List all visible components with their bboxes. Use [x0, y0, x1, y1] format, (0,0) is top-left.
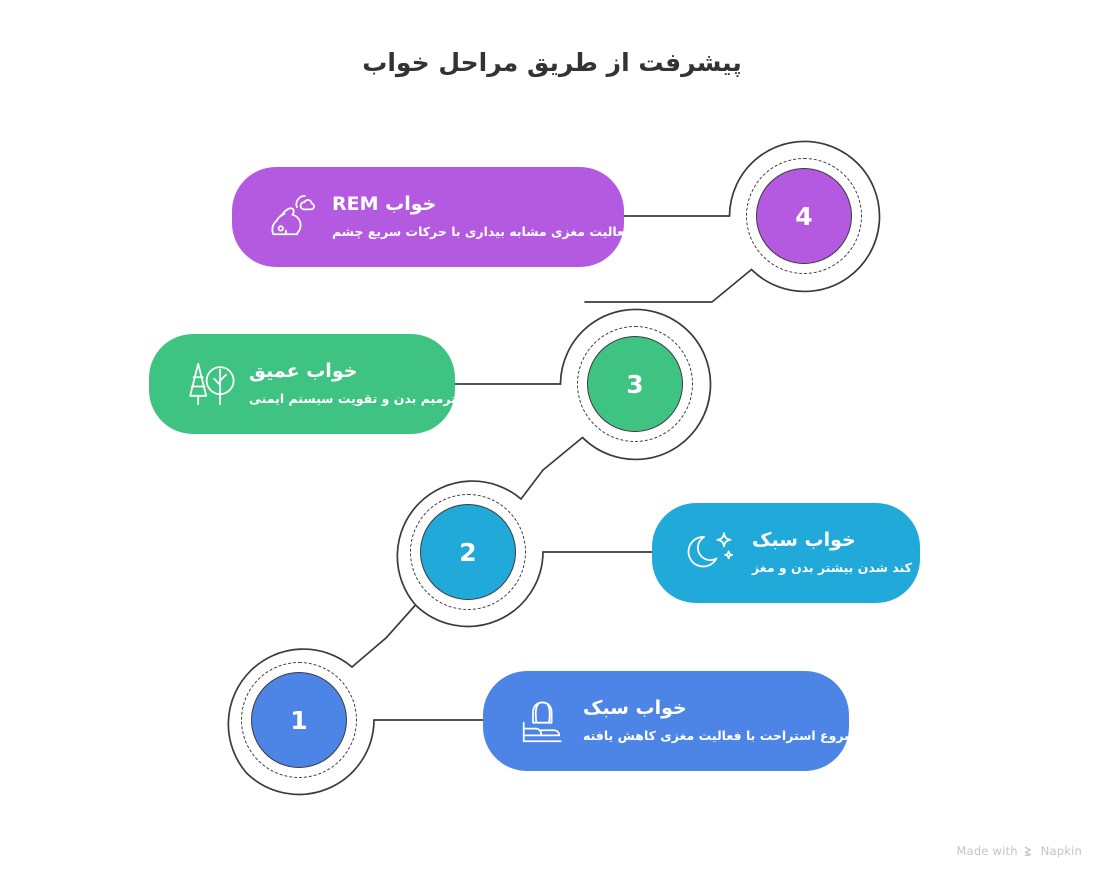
card-stage-4-title: خواب REM — [332, 192, 436, 218]
card-stage-1[interactable]: خواب سبک شروع استراحت با فعالیت مغزی کاه… — [483, 671, 849, 771]
crescent-moon-sparkles-icon — [684, 524, 742, 582]
card-stage-1-title: خواب سبک — [583, 696, 687, 722]
card-stage-1-subtitle: شروع استراحت با فعالیت مغزی کاهش یافته — [583, 727, 856, 746]
card-stage-2-subtitle: کند شدن بیشتر بدن و مغز — [752, 559, 912, 578]
card-stage-4[interactable]: خواب REM فعالیت مغزی مشابه بیداری با حرک… — [232, 167, 624, 267]
node-step-3[interactable]: 3 — [556, 305, 714, 463]
person-in-bed-icon — [515, 692, 573, 750]
watermark-made-with-label: Made with — [957, 844, 1018, 858]
card-stage-3[interactable]: خواب عمیق ترمیم بدن و تقویت سیستم ایمنی — [149, 334, 455, 434]
card-stage-1-text: خواب سبک شروع استراحت با فعالیت مغزی کاه… — [583, 696, 823, 745]
node-step-4-number: 4 — [756, 168, 852, 264]
rabbit-cloud-icon — [264, 188, 322, 246]
card-stage-4-subtitle: فعالیت مغزی مشابه بیداری با حرکات سریع چ… — [332, 223, 632, 242]
napkin-logo-icon — [1023, 845, 1036, 858]
card-stage-3-text: خواب عمیق ترمیم بدن و تقویت سیستم ایمنی — [249, 359, 429, 408]
two-trees-icon — [181, 355, 239, 413]
card-stage-2-text: خواب سبک کند شدن بیشتر بدن و مغز — [752, 528, 894, 577]
watermark-brand-label: Napkin — [1041, 844, 1082, 858]
card-stage-2-title: خواب سبک — [752, 528, 856, 554]
card-stage-4-text: خواب REM فعالیت مغزی مشابه بیداری با حرک… — [332, 192, 598, 241]
card-stage-3-subtitle: ترمیم بدن و تقویت سیستم ایمنی — [249, 390, 456, 409]
node-step-1[interactable]: 1 — [220, 641, 378, 799]
node-step-2[interactable]: 2 — [389, 473, 547, 631]
card-stage-2[interactable]: خواب سبک کند شدن بیشتر بدن و مغز — [652, 503, 920, 603]
node-step-4[interactable]: 4 — [725, 137, 883, 295]
node-step-2-number: 2 — [420, 504, 516, 600]
diagram-canvas: پیشرفت از طریق مراحل خواب — [0, 0, 1104, 878]
card-stage-3-title: خواب عمیق — [249, 359, 357, 385]
watermark: Made with Napkin — [957, 844, 1083, 858]
node-step-1-number: 1 — [251, 672, 347, 768]
node-step-3-number: 3 — [587, 336, 683, 432]
